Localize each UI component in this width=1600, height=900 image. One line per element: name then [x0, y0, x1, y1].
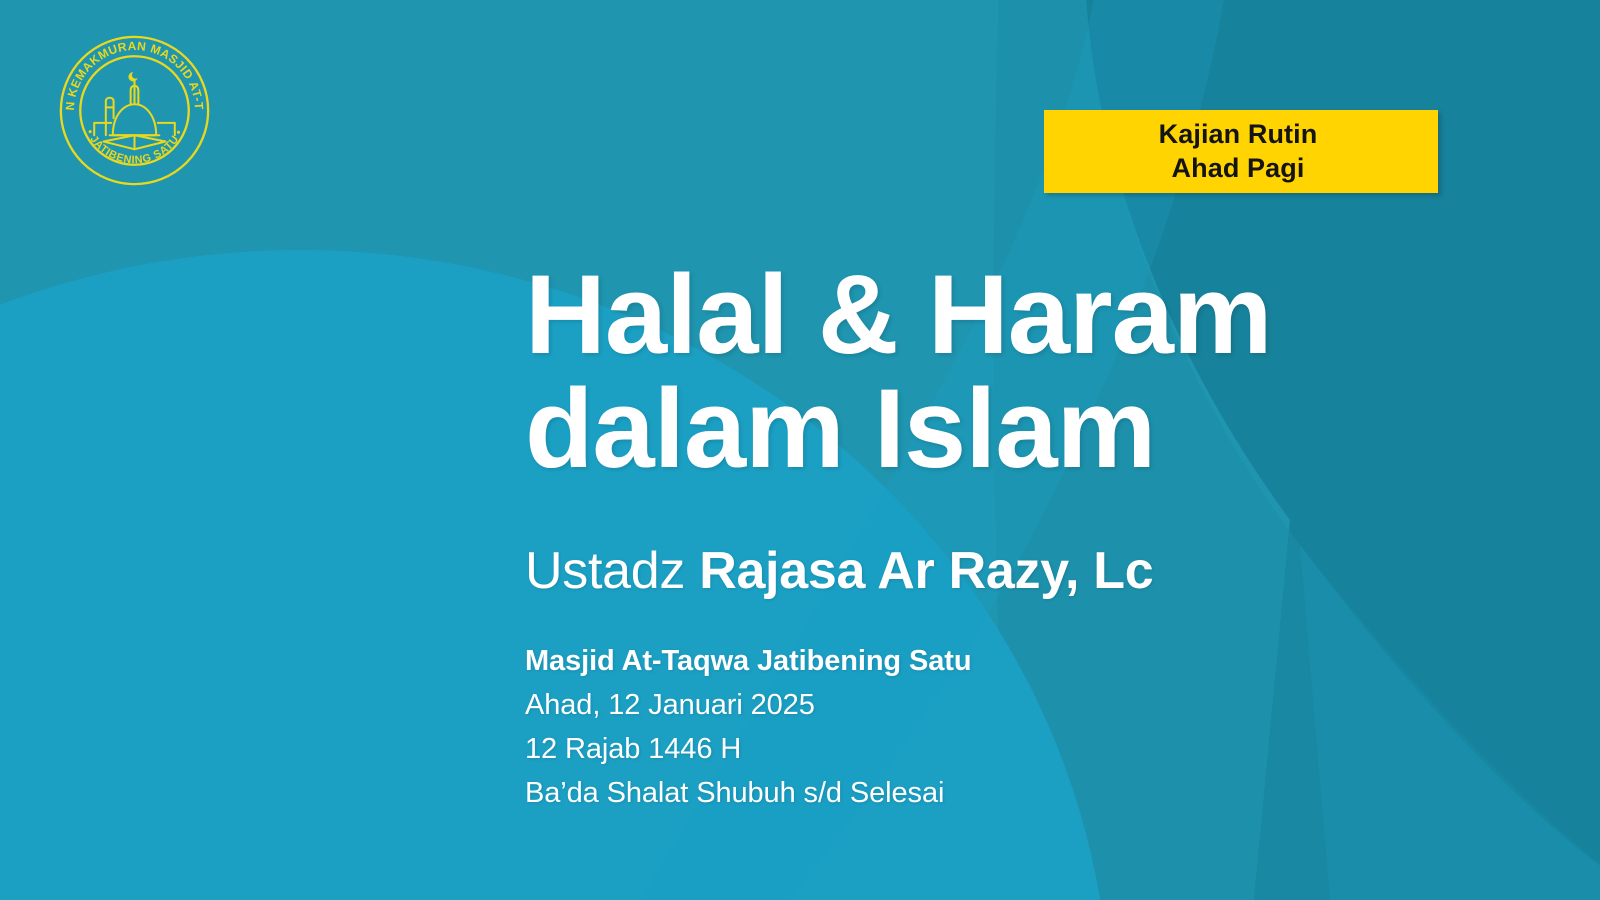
- presenter-fullname: Rajasa Ar Razy, Lc: [699, 542, 1153, 600]
- badge-line-1: Kajian Rutin: [1044, 118, 1438, 152]
- title-line-2: dalam Islam: [525, 372, 1535, 486]
- presentation-slide: DEWAN KEMAKMURAN MASJID AT-TAQWA • JATIB…: [0, 0, 1600, 900]
- detail-date-hijri: 12 Rajab 1446 H: [525, 727, 1535, 771]
- organization-logo: DEWAN KEMAKMURAN MASJID AT-TAQWA • JATIB…: [57, 33, 212, 188]
- badge-line-2: Ahad Pagi: [1044, 152, 1438, 186]
- mosque-icon: [94, 72, 175, 149]
- title-line-1: Halal & Haram: [525, 258, 1535, 372]
- event-type-badge: Kajian Rutin Ahad Pagi: [1044, 110, 1438, 193]
- detail-time: Ba’da Shalat Shubuh s/d Selesai: [525, 771, 1535, 815]
- detail-date-gregorian: Ahad, 12 Januari 2025: [525, 683, 1535, 727]
- detail-venue: Masjid At-Taqwa Jatibening Satu: [525, 639, 1535, 683]
- presenter-name: Ustadz Rajasa Ar Razy, Lc: [525, 543, 1535, 600]
- event-details: Masjid At-Taqwa Jatibening Satu Ahad, 12…: [525, 639, 1535, 815]
- presenter-prefix: Ustadz: [525, 542, 699, 600]
- slide-title: Halal & Haram dalam Islam: [525, 258, 1535, 486]
- slide-content: Halal & Haram dalam Islam Ustadz Rajasa …: [525, 258, 1535, 815]
